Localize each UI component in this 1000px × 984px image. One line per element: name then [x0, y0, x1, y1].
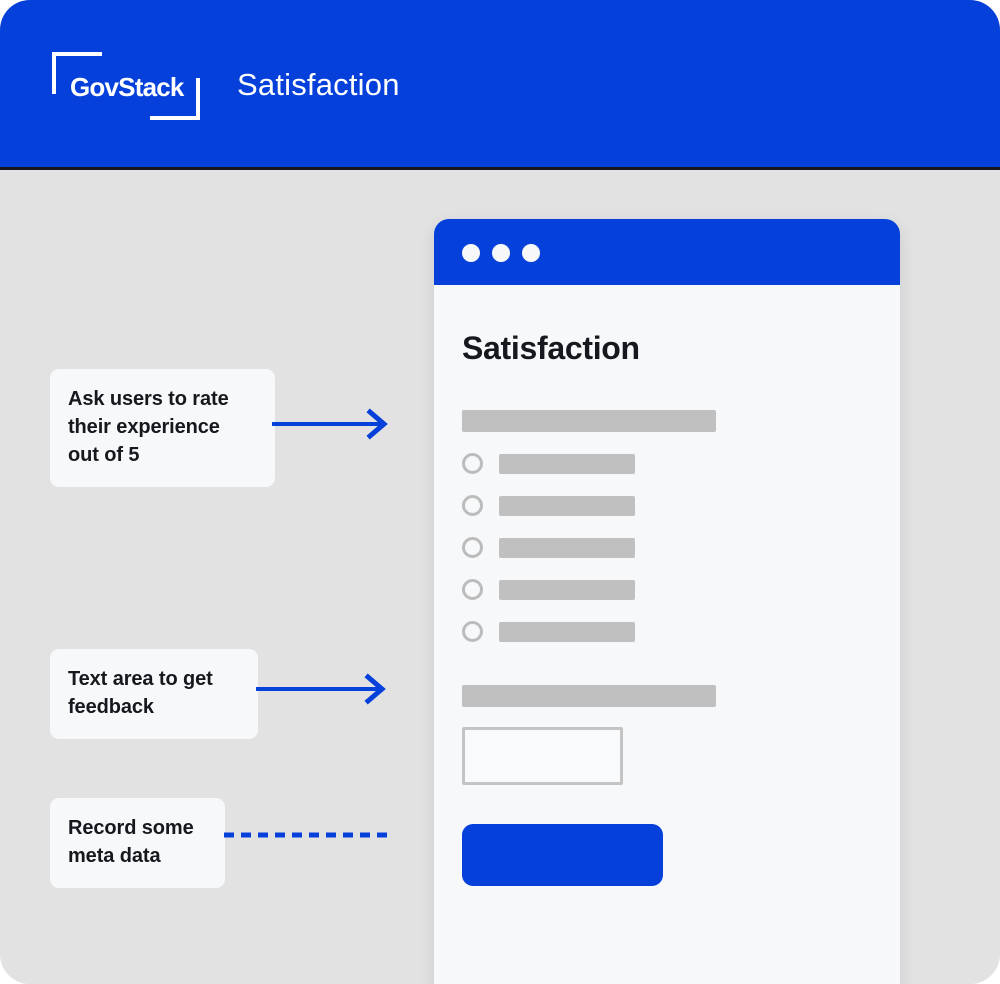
connector-arrow-feedback	[256, 673, 388, 705]
app-screen: GovStack Satisfaction Ask users to rate …	[0, 0, 1000, 984]
feedback-textarea[interactable]	[462, 727, 623, 785]
rating-option-label-placeholder	[499, 580, 635, 600]
rating-option-label-placeholder	[499, 622, 635, 642]
submit-button[interactable]	[462, 824, 663, 886]
window-minimize-dot-icon[interactable]	[492, 244, 510, 262]
govstack-logo[interactable]: GovStack	[50, 50, 202, 122]
radio-button-icon[interactable]	[462, 621, 483, 642]
svg-text:GovStack: GovStack	[70, 72, 185, 102]
window-close-dot-icon[interactable]	[462, 244, 480, 262]
window-maximize-dot-icon[interactable]	[522, 244, 540, 262]
rating-option-label-placeholder	[499, 454, 635, 474]
connector-dashed-metadata	[224, 830, 390, 840]
browser-titlebar	[434, 219, 900, 285]
feedback-label-placeholder	[462, 685, 716, 707]
rating-option-1[interactable]	[462, 452, 662, 476]
connector-arrow-rating	[272, 408, 390, 440]
diagram-canvas: Ask users to rate their experience out o…	[0, 170, 1000, 984]
radio-button-icon[interactable]	[462, 537, 483, 558]
annotation-rating: Ask users to rate their experience out o…	[50, 369, 275, 487]
form-heading: Satisfaction	[462, 330, 640, 367]
rating-option-label-placeholder	[499, 538, 635, 558]
annotation-feedback: Text area to get feedback	[50, 649, 258, 739]
browser-window-mockup: Satisfaction	[434, 219, 900, 984]
rating-option-label-placeholder	[499, 496, 635, 516]
app-header: GovStack Satisfaction	[0, 0, 1000, 170]
rating-question-placeholder	[462, 410, 716, 432]
radio-button-icon[interactable]	[462, 495, 483, 516]
radio-button-icon[interactable]	[462, 453, 483, 474]
rating-option-2[interactable]	[462, 494, 662, 518]
rating-option-3[interactable]	[462, 536, 662, 560]
rating-option-5[interactable]	[462, 620, 662, 644]
page-title: Satisfaction	[237, 63, 400, 107]
rating-option-4[interactable]	[462, 578, 662, 602]
annotation-metadata: Record some meta data	[50, 798, 225, 888]
radio-button-icon[interactable]	[462, 579, 483, 600]
